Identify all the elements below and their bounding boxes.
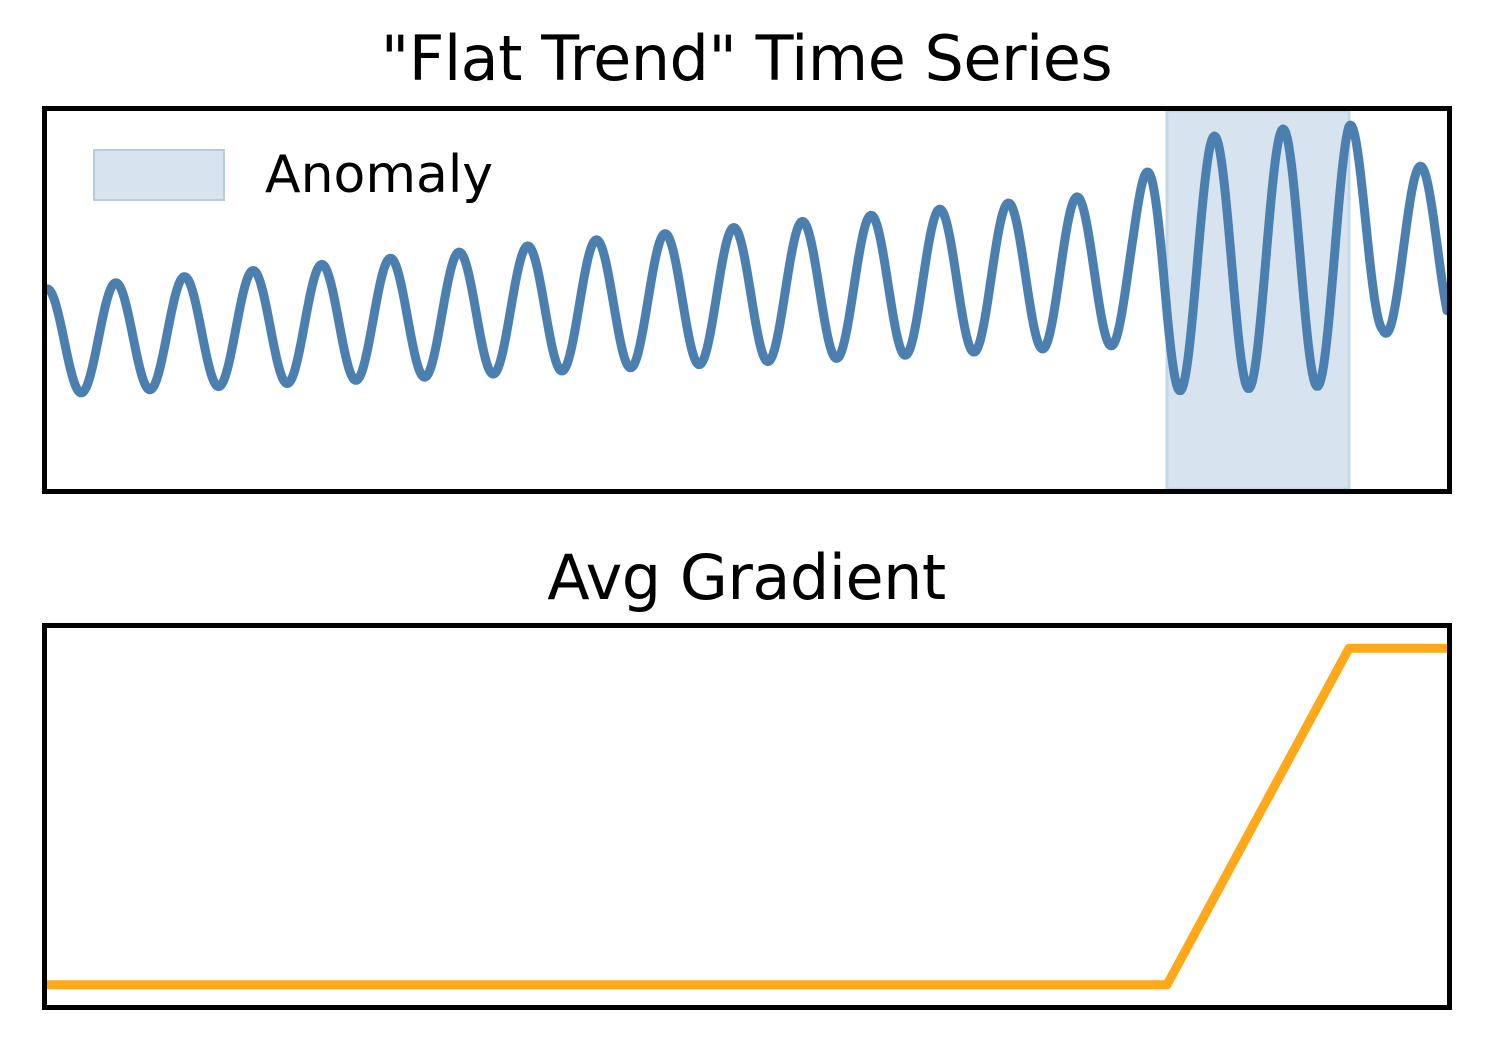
legend-anomaly-swatch-icon	[93, 149, 225, 201]
figure-root: "Flat Trend" Time Series Anomaly Avg Gra…	[0, 0, 1493, 1054]
bottom-panel-title: Avg Gradient	[0, 543, 1493, 613]
gradient-plot-area	[47, 628, 1447, 1005]
timeseries-axes[interactable]: Anomaly	[42, 106, 1452, 494]
avg-gradient-line	[47, 648, 1447, 985]
gradient-axes[interactable]	[42, 623, 1452, 1010]
gradient-canvas	[47, 628, 1447, 1005]
legend-anomaly-label: Anomaly	[265, 149, 493, 201]
top-panel-title: "Flat Trend" Time Series	[0, 24, 1493, 94]
legend[interactable]: Anomaly	[93, 149, 493, 201]
